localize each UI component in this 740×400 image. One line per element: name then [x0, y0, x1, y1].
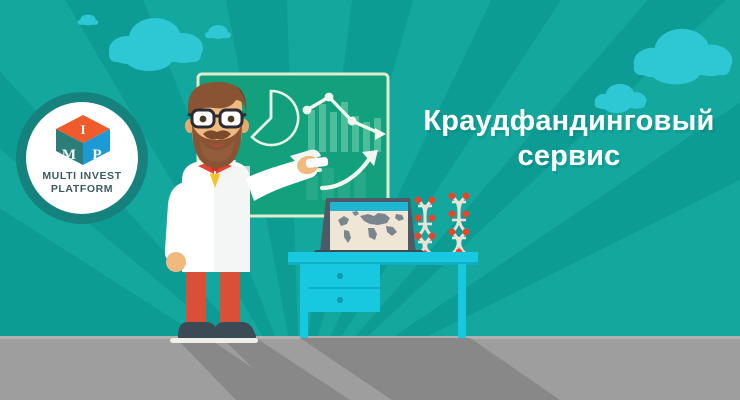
desk-leg-left — [300, 264, 308, 338]
cube-left-letter: M — [62, 147, 76, 163]
banner: I M P MULTI INVEST PLATFORM Краудфандинг… — [0, 0, 740, 400]
cube-right-letter: P — [92, 147, 101, 163]
drawer-knob[interactable] — [337, 297, 343, 303]
desk-leg-right — [458, 264, 466, 338]
logo-wordmark-line2: PLATFORM — [24, 183, 140, 196]
logo-badge[interactable]: I M P MULTI INVEST PLATFORM — [16, 92, 148, 224]
logo-wordmark: MULTI INVEST PLATFORM — [24, 170, 140, 196]
laptop — [310, 198, 428, 256]
logo-wordmark-line1: MULTI INVEST — [42, 170, 121, 182]
cube-logo-icon: I M P — [54, 114, 112, 166]
cube-top-letter: I — [80, 122, 85, 137]
headline: Краудфандинговый сервис — [404, 104, 734, 175]
drawer-knob[interactable] — [337, 273, 343, 279]
headline-line1: Краудфандинговый — [423, 105, 714, 137]
headline-line2: сервис — [404, 139, 734, 174]
